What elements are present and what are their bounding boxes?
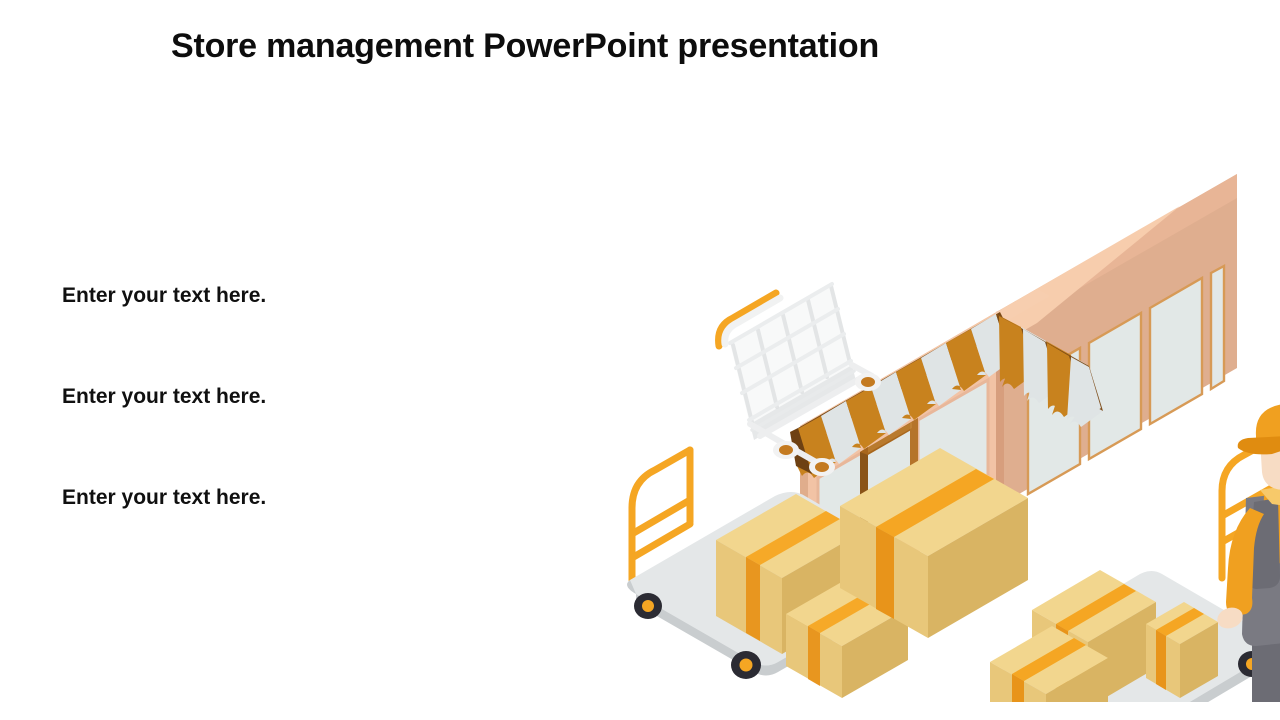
text-placeholder-2: Enter your text here. <box>62 384 492 409</box>
text-placeholder-3: Enter your text here. <box>62 485 492 510</box>
page-title: Store management PowerPoint presentation <box>0 28 1280 65</box>
isometric-store-logistics-illustration <box>600 78 1280 702</box>
list-item[interactable]: Enter your text here. <box>62 283 492 384</box>
list-item[interactable]: Enter your text here. <box>62 485 492 586</box>
text-placeholder-1: Enter your text here. <box>62 283 492 308</box>
list-item[interactable]: Enter your text here. <box>62 384 492 485</box>
text-placeholder-list: Enter your text here. Enter your text he… <box>62 283 492 586</box>
presentation-slide: Store management PowerPoint presentation… <box>0 0 1280 720</box>
